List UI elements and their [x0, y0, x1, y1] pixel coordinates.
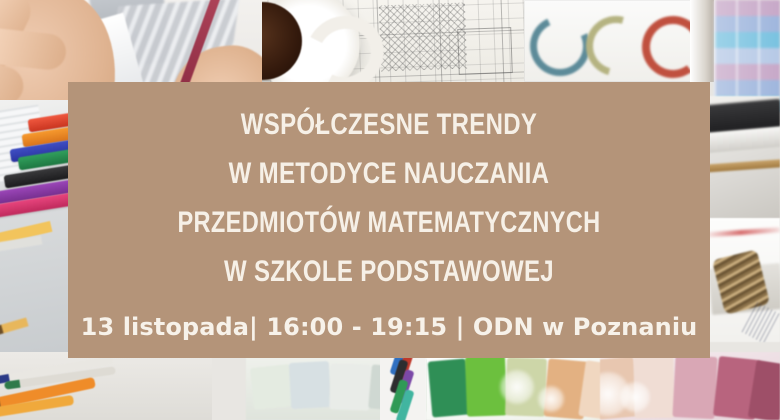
event-title: WSPÓŁCZESNE TRENDY W METODYCE NAUCZANIA …	[68, 100, 710, 296]
title-line-3: PRZEDMIOTÓW MATEMATYCZNYCH	[132, 198, 646, 247]
title-line-4: W SZKOLE PODSTAWOWEJ	[132, 247, 646, 296]
photo-spiral-notebook	[700, 218, 780, 342]
photo-pink-swatch-fan	[600, 352, 780, 420]
photo-pens-pencils	[0, 352, 212, 420]
finger-shape	[0, 28, 68, 71]
text-overlay-panel: WSPÓŁCZESNE TRENDY W METODYCE NAUCZANIA …	[68, 82, 710, 358]
bokeh-highlight	[620, 382, 650, 412]
bokeh-highlight	[538, 386, 564, 412]
photo-pen-tips	[380, 352, 426, 420]
swatch-card	[428, 358, 471, 417]
swatch-card	[250, 364, 294, 410]
title-line-2: W METODYCE NAUCZANIA	[132, 149, 646, 198]
blueprint-hatch	[379, 3, 467, 72]
photo-donut-charts	[524, 0, 714, 82]
event-details: 13 listopada| 16:00 - 19:15 | ODN w Pozn…	[68, 312, 710, 342]
swatch-card	[329, 363, 371, 410]
photo-colored-markers	[0, 100, 76, 368]
pencil-small	[0, 317, 29, 335]
red-accent-line	[702, 227, 780, 237]
swatch-card	[289, 361, 331, 409]
bokeh-highlight	[500, 370, 534, 404]
blueprint-box	[457, 27, 513, 75]
photo-green-swatch-fan	[426, 352, 608, 420]
photo-laptop-edge	[700, 96, 780, 226]
photo-coffee-blueprint	[262, 0, 524, 86]
event-poster: WSPÓŁCZESNE TRENDY W METODYCE NAUCZANIA …	[0, 0, 780, 420]
swatch-card	[672, 355, 717, 419]
wood-desk-edge	[700, 159, 780, 173]
title-line-1: WSPÓŁCZESNE TRENDY	[132, 100, 646, 149]
card-edge-shape	[690, 0, 714, 82]
